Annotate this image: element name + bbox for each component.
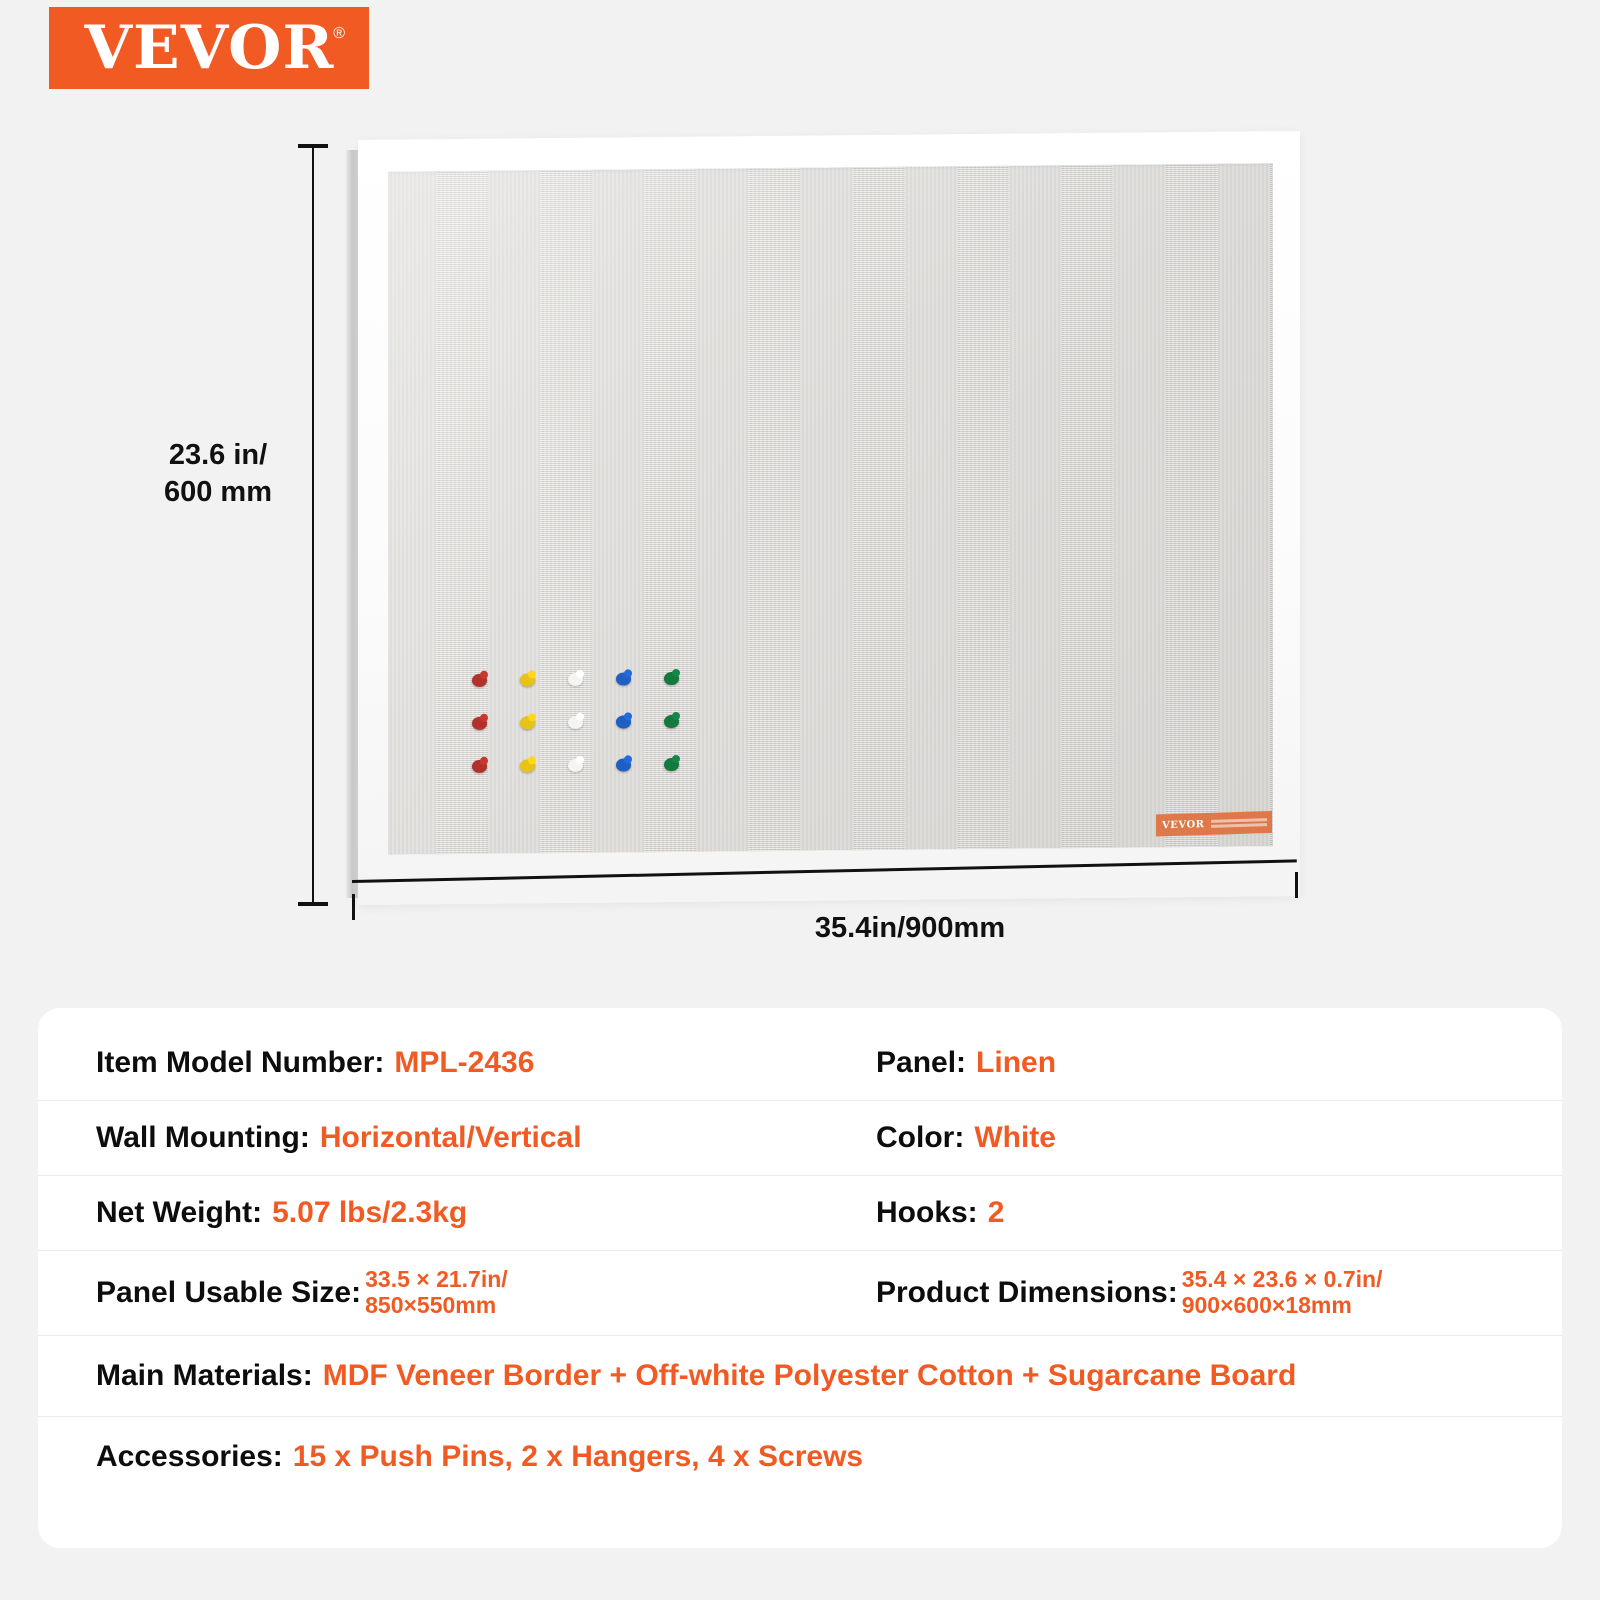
width-dimension-cap-right [1295, 872, 1298, 898]
push-pin-white [568, 673, 583, 686]
push-pin-blue [616, 715, 631, 728]
board-sticker-logo: VEVOR [1162, 819, 1205, 831]
push-pin-red [472, 674, 487, 687]
spec-label: Product Dimensions: [876, 1276, 1178, 1310]
push-pin-green [664, 672, 679, 685]
spec-value: MDF Veneer Border + Off-white Polyester … [323, 1359, 1297, 1393]
spec-label: Color: [876, 1121, 964, 1155]
spec-row: Main Materials: MDF Veneer Border + Off-… [38, 1336, 1562, 1417]
spec-value: MPL-2436 [394, 1046, 534, 1080]
spec-value: Linen [976, 1046, 1056, 1080]
spec-panel-usable-size: Panel Usable Size: 33.5 × 21.7in/ 850×55… [38, 1251, 876, 1335]
push-pin-yellow [520, 673, 535, 686]
spec-value: White [974, 1121, 1056, 1155]
vevor-logo-text: VEVOR [84, 18, 334, 78]
spec-label: Wall Mounting: [96, 1121, 310, 1155]
spec-color: Color: White [876, 1101, 1562, 1175]
push-pin-grid [472, 672, 679, 803]
board-sticker-text-lines [1211, 818, 1267, 828]
push-pin-red [472, 760, 487, 773]
height-dimension-cap-bottom [298, 902, 328, 906]
spec-label: Panel: [876, 1046, 966, 1080]
push-pin-row [472, 758, 679, 773]
push-pin-row [472, 715, 679, 730]
bulletin-board: VEVOR [346, 140, 1300, 910]
spec-label: Panel Usable Size: [96, 1276, 361, 1310]
push-pin-row [472, 672, 679, 687]
spec-row: Item Model Number: MPL-2436 Panel: Linen [38, 1026, 1562, 1101]
spec-product-dimensions: Product Dimensions: 35.4 × 23.6 × 0.7in/… [876, 1251, 1562, 1335]
linen-panel [388, 163, 1273, 854]
vevor-logo: VEVOR ® [49, 7, 369, 89]
spec-label: Item Model Number: [96, 1046, 384, 1080]
spec-value: 2 [988, 1196, 1005, 1230]
spec-net-weight: Net Weight: 5.07 lbs/2.3kg [38, 1176, 876, 1250]
spec-row: Wall Mounting: Horizontal/Vertical Color… [38, 1101, 1562, 1176]
spec-label: Net Weight: [96, 1196, 262, 1230]
push-pin-yellow [520, 759, 535, 772]
spec-label: Accessories: [96, 1440, 283, 1474]
product-photo: 23.6 in/ 600 mm [0, 100, 1600, 980]
spec-hooks: Hooks: 2 [876, 1176, 1562, 1250]
push-pin-green [664, 715, 679, 728]
spec-label: Hooks: [876, 1196, 978, 1230]
product-spec-page: VEVOR ® 23.6 in/ 600 mm [0, 0, 1600, 1600]
registered-trademark-icon: ® [333, 25, 345, 43]
height-dimension-label: 23.6 in/ 600 mm [138, 437, 298, 511]
spec-label: Main Materials: [96, 1359, 313, 1393]
spec-row: Panel Usable Size: 33.5 × 21.7in/ 850×55… [38, 1251, 1562, 1336]
push-pin-green [664, 758, 679, 771]
push-pin-white [568, 716, 583, 729]
push-pin-blue [616, 758, 631, 771]
push-pin-blue [616, 672, 631, 685]
board-frame: VEVOR [358, 131, 1300, 905]
specifications-card: Item Model Number: MPL-2436 Panel: Linen… [38, 1008, 1562, 1548]
push-pin-red [472, 717, 487, 730]
board-vevor-sticker: VEVOR [1156, 811, 1272, 837]
spec-row: Accessories: 15 x Push Pins, 2 x Hangers… [38, 1417, 1562, 1497]
spec-value: 35.4 × 23.6 × 0.7in/ 900×600×18mm [1182, 1267, 1383, 1319]
spec-value: 33.5 × 21.7in/ 850×550mm [365, 1267, 508, 1319]
spec-value: Horizontal/Vertical [320, 1121, 582, 1155]
width-dimension-cap-left [352, 894, 355, 920]
width-dimension-label: 35.4in/900mm [700, 912, 1120, 945]
height-dimension-line1: 23.6 in/ [138, 437, 298, 474]
spec-value: 5.07 lbs/2.3kg [272, 1196, 467, 1230]
push-pin-yellow [520, 716, 535, 729]
spec-accessories: Accessories: 15 x Push Pins, 2 x Hangers… [38, 1417, 1562, 1497]
height-dimension-line2: 600 mm [138, 474, 298, 511]
push-pin-white [568, 759, 583, 772]
height-dimension-line [312, 146, 314, 906]
spec-panel: Panel: Linen [876, 1026, 1562, 1100]
spec-main-materials: Main Materials: MDF Veneer Border + Off-… [38, 1336, 1562, 1416]
spec-item-model-number: Item Model Number: MPL-2436 [38, 1026, 876, 1100]
spec-wall-mounting: Wall Mounting: Horizontal/Vertical [38, 1101, 876, 1175]
spec-row: Net Weight: 5.07 lbs/2.3kg Hooks: 2 [38, 1176, 1562, 1251]
spec-value: 15 x Push Pins, 2 x Hangers, 4 x Screws [293, 1440, 863, 1474]
